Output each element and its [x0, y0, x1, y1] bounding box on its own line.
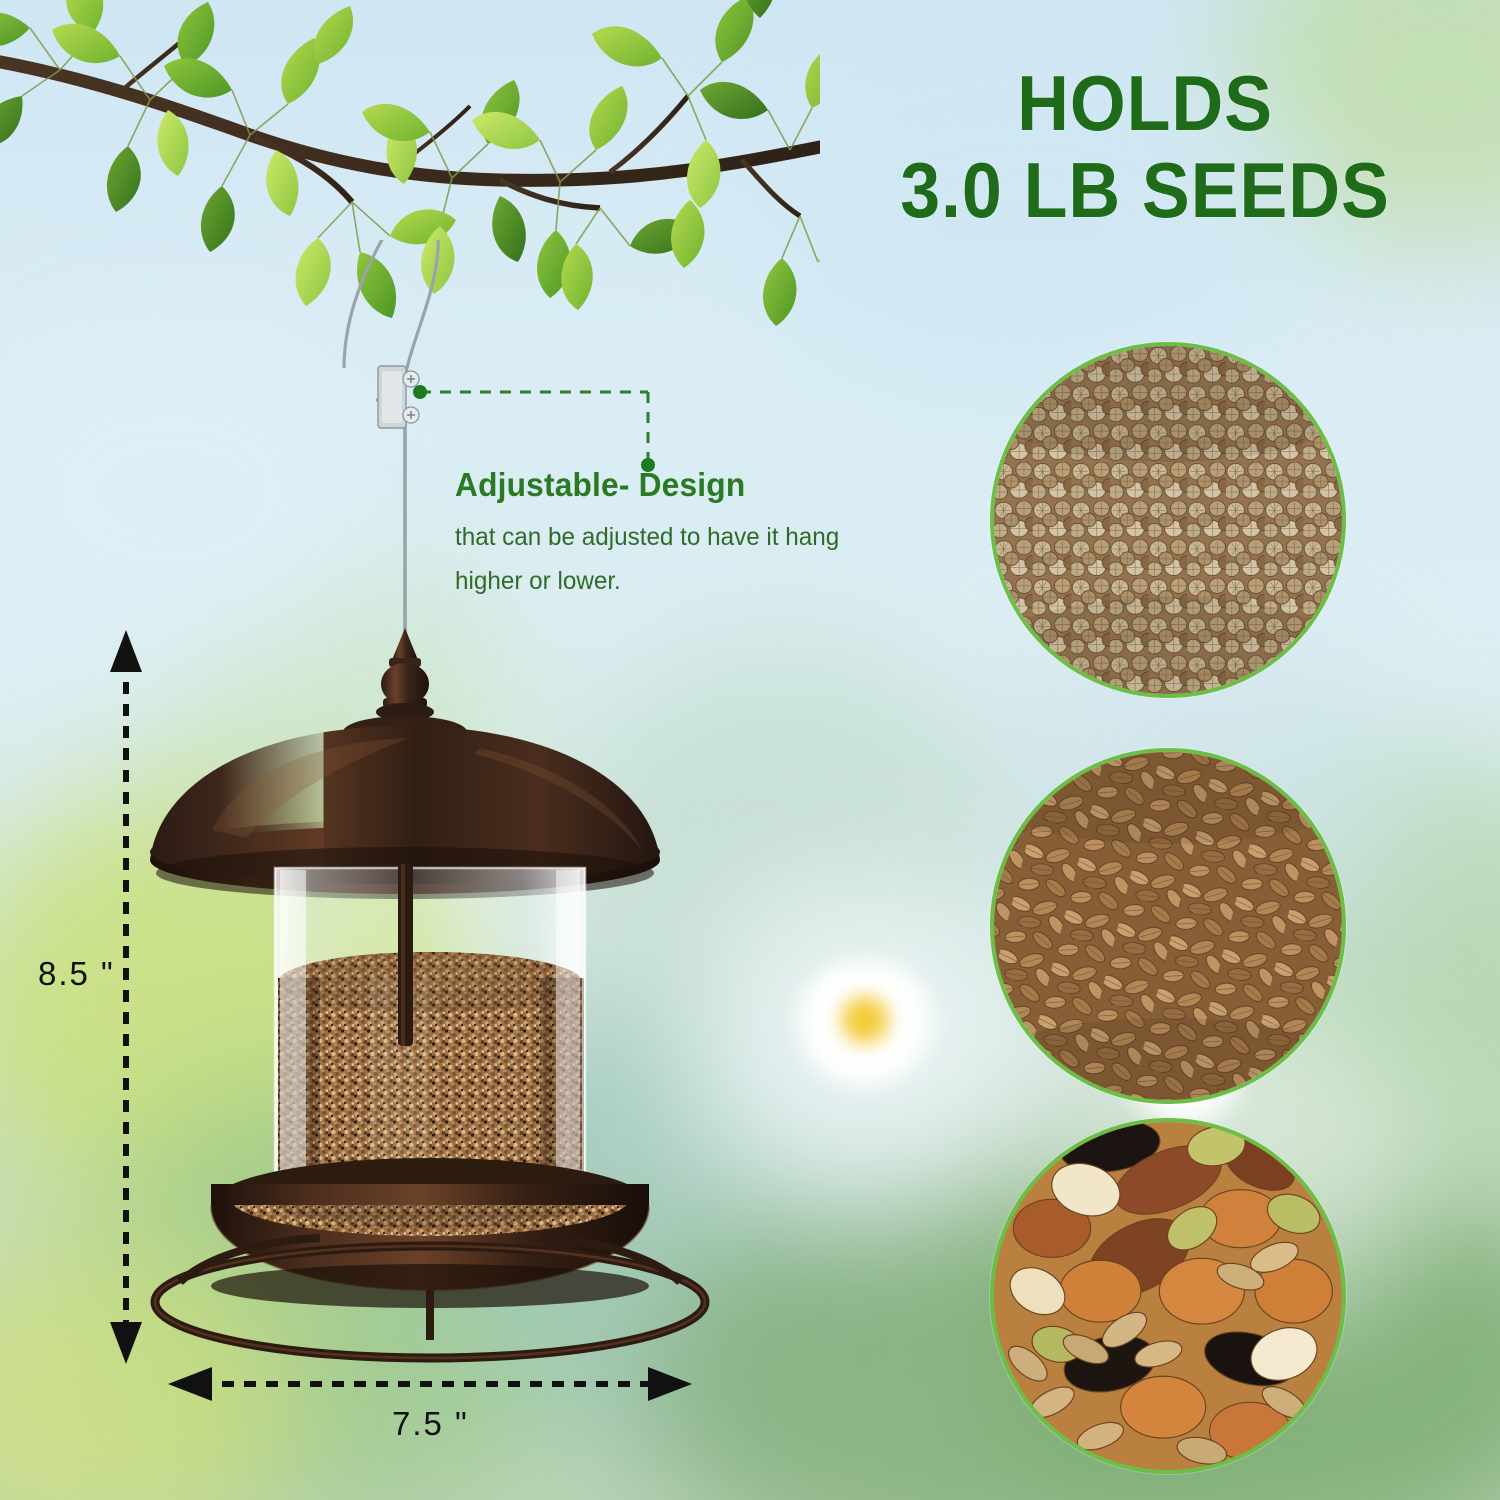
infographic-stage: HOLDS 3.0 LB SEEDS Adjustable- Design th… [0, 0, 1500, 1500]
width-arrow-right [648, 1367, 692, 1401]
wheat-grain-circle [990, 748, 1346, 1104]
mixed-nut-circle [990, 1118, 1346, 1474]
coriander-seed-circle [990, 342, 1346, 698]
height-arrow-bottom [110, 1322, 142, 1364]
headline-line-1: HOLDS [837, 60, 1453, 147]
height-dimension-label: 8.5 " [38, 955, 115, 993]
height-arrow-top [110, 630, 142, 672]
width-arrow-left [168, 1367, 212, 1401]
blurred-daisy-flower [790, 960, 940, 1090]
coriander-seed-image [994, 346, 1342, 694]
dimension-annotations [0, 0, 760, 1500]
headline-line-2: 3.0 LB SEEDS [837, 147, 1453, 234]
headline: HOLDS 3.0 LB SEEDS [810, 60, 1480, 235]
width-dimension-label: 7.5 " [392, 1405, 469, 1443]
mixed-nut-image [994, 1122, 1342, 1470]
wheat-grain-image [994, 752, 1342, 1100]
